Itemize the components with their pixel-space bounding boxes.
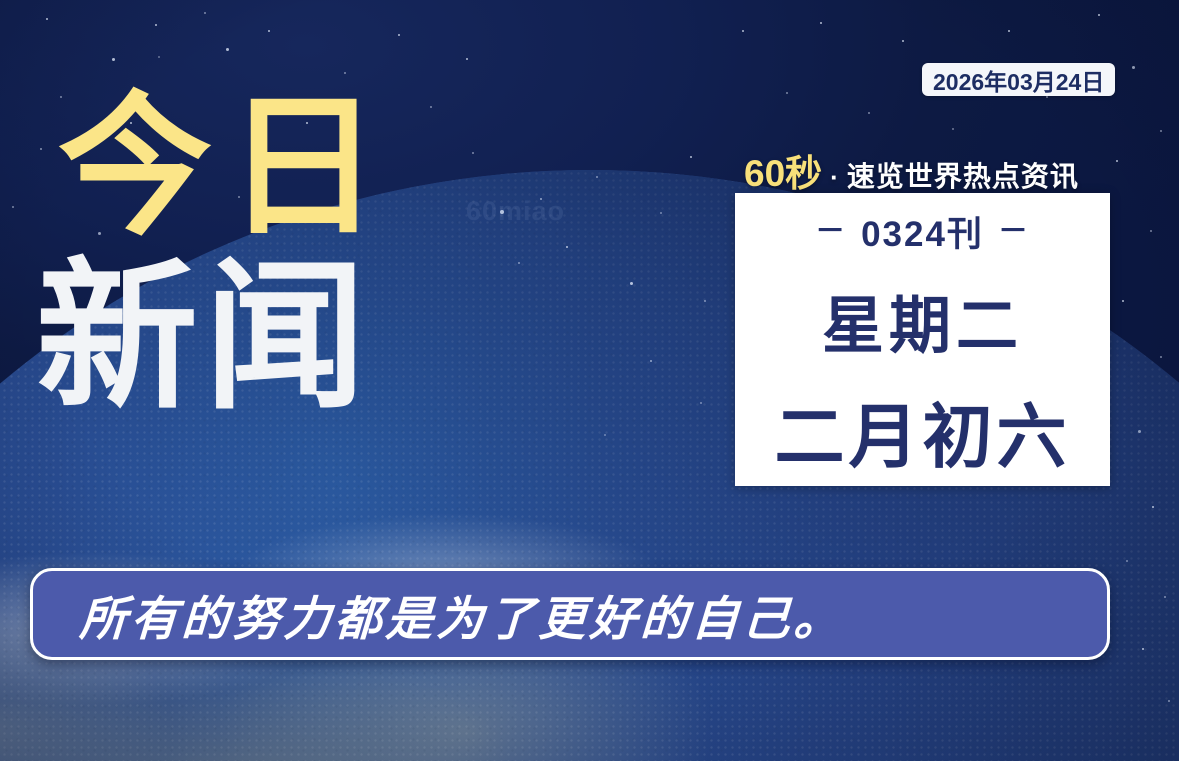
date-card: － 0324刊 － 星期二 二月初六 [735, 193, 1110, 486]
issue-number: 0324刊 [861, 206, 984, 257]
poster-title: 今日 新闻 [58, 92, 478, 419]
tagline-seconds: 60秒 [744, 143, 822, 197]
issue-dash-right: － [998, 217, 1030, 247]
watermark-text: 60miao [466, 196, 565, 227]
quote-text: 所有的努力都是为了更好的自己。 [78, 580, 847, 649]
card-lunar-date: 二月初六 [775, 381, 1071, 482]
date-pill-label: 2026年03月24日 [933, 63, 1104, 97]
tagline: 60秒 · 速览世界热点资讯 [744, 143, 1079, 197]
title-line-2: 新闻 [36, 258, 478, 418]
news-poster: 60miao 2026年03月24日 60秒 · 速览世界热点资讯 今日 新闻 … [0, 0, 1179, 761]
date-pill: 2026年03月24日 [922, 63, 1115, 96]
tagline-separator: · [830, 162, 839, 193]
issue-dash-left: － [815, 217, 847, 247]
quote-banner: 所有的努力都是为了更好的自己。 [30, 568, 1110, 660]
tagline-text: 速览世界热点资讯 [847, 155, 1079, 195]
title-line-1: 今日 [58, 92, 478, 244]
card-weekday: 星期二 [822, 275, 1023, 365]
card-issue-row: － 0324刊 － [815, 206, 1030, 257]
